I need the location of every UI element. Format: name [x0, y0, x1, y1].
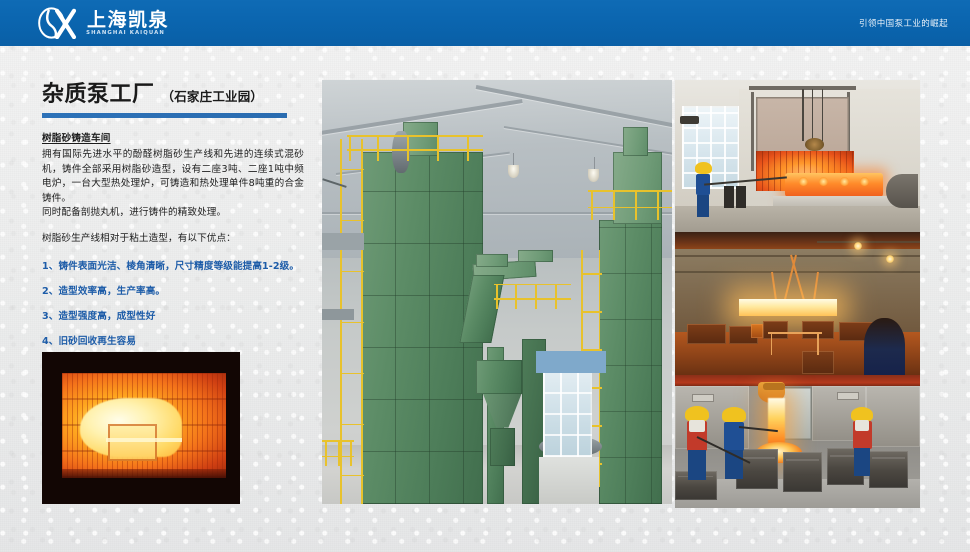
- face-mask-icon: [689, 420, 705, 432]
- office-base: [539, 457, 599, 504]
- photo-furnace-interior: [42, 352, 240, 504]
- paragraph-2: 同时配备剖抛丸机，进行铸件的精致处理。: [42, 206, 304, 221]
- mixer-motor: [490, 428, 515, 466]
- foreground-worker-silhouette: [864, 318, 906, 375]
- paragraph-3: 树脂砂生产线相对于粘土造型，有以下优点：: [42, 232, 304, 247]
- conveyor-cover: [518, 250, 553, 263]
- hoist-cable: [822, 89, 823, 141]
- worker-figure: [722, 407, 747, 479]
- shop-wall-panel: [866, 386, 920, 447]
- guard-rail-post: [771, 332, 773, 355]
- conveyor-cover: [476, 254, 508, 267]
- section-heading: 树脂砂铸造车间: [42, 132, 304, 146]
- photo-molten-pouring: [675, 375, 920, 508]
- worker-figure: [695, 162, 712, 217]
- list-item: 2、造型效率高，生产率高。: [42, 285, 304, 298]
- door-guide-post: [751, 92, 754, 171]
- page-title-main: 杂质泵工厂: [42, 82, 155, 108]
- brand-logo[interactable]: 上海凯泉 SHANGHAI KAIQUAN: [36, 6, 169, 40]
- ceiling-lamp-icon: [886, 255, 894, 263]
- guard-rail-post: [817, 332, 819, 355]
- glowing-casting: [785, 173, 883, 197]
- shop-floor: [675, 206, 920, 232]
- photo-crane-hot-workpiece: [675, 232, 920, 375]
- list-item: 1、铸件表面光洁、棱角清晰，尺寸精度等级能提高1-2级。: [42, 260, 304, 273]
- mixer-body: [476, 360, 522, 394]
- hard-hat-icon: [695, 162, 712, 174]
- page-title-subtitle: （石家庄工业园）: [162, 87, 264, 108]
- wall-sign: [837, 392, 859, 400]
- ceiling-lamp-icon: [854, 242, 862, 250]
- page-title: 杂质泵工厂 （石家庄工业园）: [42, 82, 304, 108]
- rubber-boots: [736, 186, 746, 207]
- furnace-chamber-glow: [62, 373, 226, 478]
- platform-railing: [347, 135, 484, 160]
- hoist-cable: [802, 89, 803, 141]
- hearth-shadow: [62, 469, 226, 478]
- paragraph-1: 拥有国际先进水平的酚醛树脂砂生产线和先进的连续式混砂机，铸件全部采用树脂砂造型，…: [42, 148, 304, 206]
- platform-railing: [322, 440, 354, 465]
- wall-fixture: [680, 116, 700, 124]
- silo-top-cap: [623, 127, 648, 157]
- header-tagline: 引领中国泵工业的崛起: [859, 0, 948, 46]
- office-window: [543, 368, 592, 457]
- face-mask-icon: [855, 420, 869, 431]
- page-header: 上海凯泉 SHANGHAI KAIQUAN 引领中国泵工业的崛起: [0, 0, 970, 46]
- rubber-boots: [724, 186, 734, 207]
- green-sand-silo: [599, 220, 662, 504]
- hard-hat-icon: [722, 407, 747, 423]
- ceiling-lamp-icon: [588, 169, 599, 182]
- mold-crate: [687, 324, 726, 344]
- hot-ladle: [751, 324, 763, 338]
- list-item: 4、旧砂回收再生容易: [42, 335, 304, 348]
- fume-hood-bar: [675, 375, 920, 386]
- worker-figure: [685, 406, 710, 480]
- ladle-yoke: [763, 383, 785, 390]
- slide-canvas: 上海凯泉 SHANGHAI KAIQUAN 引领中国泵工业的崛起 杂质泵工厂 （…: [0, 0, 970, 552]
- list-item: 3、造型强度高，成型性好: [42, 310, 304, 323]
- brand-name-en: SHANGHAI KAIQUAN: [86, 30, 170, 37]
- mold-crate: [763, 321, 788, 340]
- sand-mold-box: [869, 451, 908, 488]
- content-text-column: 杂质泵工厂 （石家庄工业园） 树脂砂铸造车间 拥有国际先进水平的酚醛树脂砂生产线…: [42, 82, 304, 348]
- ceiling-lamp-icon: [508, 165, 519, 178]
- hoist-cable: [812, 89, 813, 141]
- worker-figure: [851, 407, 873, 476]
- office-canopy: [536, 351, 606, 372]
- body-copy: 树脂砂铸造车间 拥有国际先进水平的酚醛树脂砂生产线和先进的连续式混砂机，铸件全部…: [42, 132, 304, 247]
- photo-resin-sand-plant: [322, 80, 672, 504]
- mezzanine-slab: [322, 309, 354, 320]
- mezzanine-slab: [322, 233, 364, 250]
- casting-rib: [106, 438, 182, 442]
- sand-mold-box: [783, 452, 822, 492]
- photo-heat-treatment: [675, 80, 920, 232]
- kaiquan-monogram-icon: [36, 7, 80, 39]
- brand-name-cn: 上海凯泉: [87, 10, 169, 30]
- title-underline-rule: [42, 113, 287, 118]
- glowing-workpiece: [739, 299, 837, 316]
- casting-box-frame: [108, 424, 157, 462]
- guard-rail: [768, 332, 822, 334]
- platform-railing: [494, 284, 571, 309]
- platform-railing: [588, 190, 672, 220]
- wall-sign: [692, 394, 714, 402]
- advantages-list: 1、铸件表面光洁、棱角清晰，尺寸精度等级能提高1-2级。 2、造型效率高，生产率…: [42, 260, 304, 348]
- steel-drum: [886, 174, 918, 207]
